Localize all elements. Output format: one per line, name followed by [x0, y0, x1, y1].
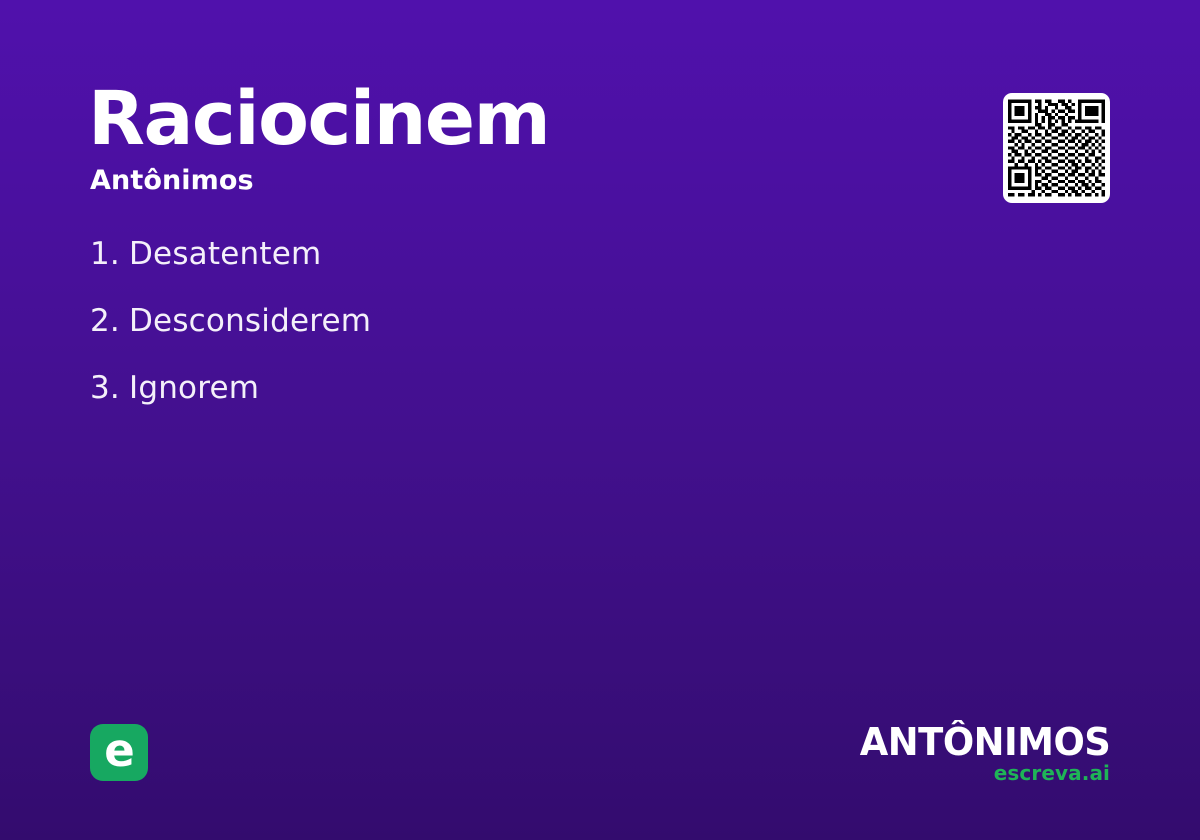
list-item: 1. Desatentem	[90, 236, 890, 303]
relation-label: Antônimos	[90, 167, 254, 194]
list-item-label: Ignorem	[129, 370, 259, 406]
list-item: 3. Ignorem	[90, 370, 890, 437]
list-item-index: 3.	[90, 370, 120, 406]
qr-code-icon	[1008, 99, 1105, 197]
brand-badge-letter: e	[104, 728, 134, 773]
brand-wordmark: ANTÔNIMOS escreva.ai	[852, 723, 1110, 783]
escreva-e-icon: e	[90, 724, 148, 781]
list-item-label: Desconsiderem	[129, 303, 371, 339]
answer-list: 1. Desatentem 2. Desconsiderem 3. Ignore…	[90, 236, 890, 437]
list-item: 2. Desconsiderem	[90, 303, 890, 370]
wordmark-subtitle: escreva.ai	[852, 763, 1110, 783]
antonyms-card: Raciocinem Antônimos 1. Desatentem 2. De…	[0, 0, 1200, 840]
page-title: Raciocinem	[88, 82, 549, 156]
list-item-index: 1.	[90, 236, 120, 272]
qr-code-card[interactable]	[1003, 93, 1110, 203]
wordmark-title: ANTÔNIMOS	[859, 723, 1110, 761]
list-item-index: 2.	[90, 303, 120, 339]
list-item-label: Desatentem	[129, 236, 321, 272]
